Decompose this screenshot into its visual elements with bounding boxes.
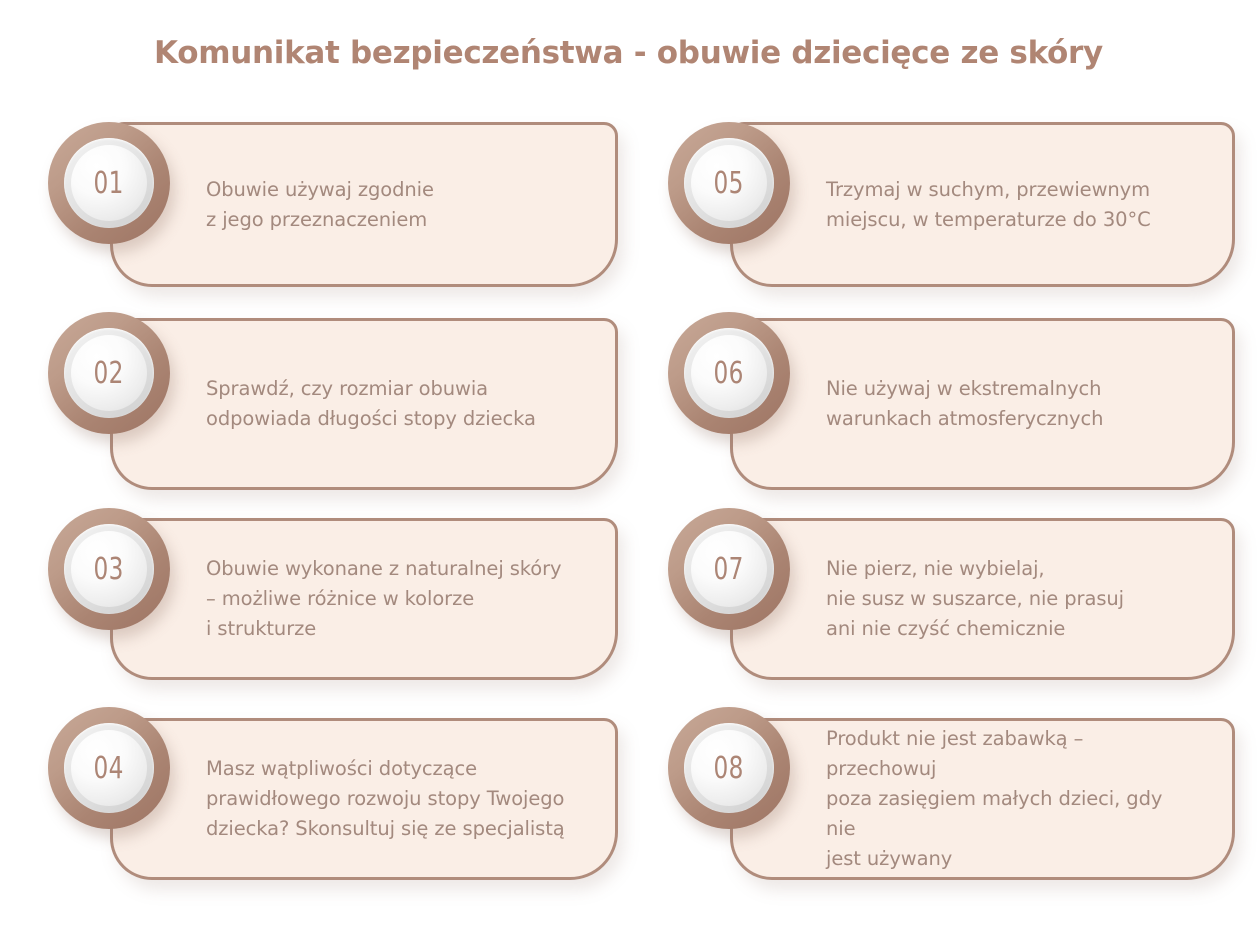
badge-inner-ring: 06 [684,328,774,418]
card-text: Masz wątpliwości dotyczące prawidłowego … [206,754,578,844]
info-card-02: Sprawdź, czy rozmiar obuwia odpowiada dł… [110,318,618,490]
info-card-04: Masz wątpliwości dotyczące prawidłowego … [110,718,618,880]
badge-03: 03 [48,508,170,630]
badge-07: 07 [668,508,790,630]
info-card-06: Nie używaj w ekstremalnych warunkach atm… [730,318,1235,490]
badge-number: 05 [714,166,744,201]
badge-number: 07 [714,552,744,587]
badge-face: 08 [691,730,767,806]
card-text: Obuwie używaj zgodnie z jego przeznaczen… [206,175,578,235]
badge-number: 06 [714,356,744,391]
badge-08: 08 [668,707,790,829]
info-card-01: Obuwie używaj zgodnie z jego przeznaczen… [110,122,618,287]
badge-face: 01 [71,145,147,221]
badge-number: 02 [94,356,124,391]
badge-face: 05 [691,145,767,221]
cards-board: Obuwie używaj zgodnie z jego przeznaczen… [0,0,1257,941]
badge-inner-ring: 08 [684,723,774,813]
badge-face: 03 [71,531,147,607]
badge-face: 02 [71,335,147,411]
badge-05: 05 [668,122,790,244]
badge-number: 03 [94,552,124,587]
card-text: Sprawdź, czy rozmiar obuwia odpowiada dł… [206,374,578,434]
badge-inner-ring: 04 [64,723,154,813]
badge-face: 06 [691,335,767,411]
badge-inner-ring: 03 [64,524,154,614]
info-card-03: Obuwie wykonane z naturalnej skóry – moż… [110,518,618,680]
badge-04: 04 [48,707,170,829]
info-card-05: Trzymaj w suchym, przewiewnym miejscu, w… [730,122,1235,287]
info-card-07: Nie pierz, nie wybielaj, nie susz w susz… [730,518,1235,680]
card-text: Trzymaj w suchym, przewiewnym miejscu, w… [826,175,1195,235]
card-text: Nie pierz, nie wybielaj, nie susz w susz… [826,554,1195,644]
badge-inner-ring: 01 [64,138,154,228]
badge-face: 04 [71,730,147,806]
card-text: Nie używaj w ekstremalnych warunkach atm… [826,374,1195,434]
badge-02: 02 [48,312,170,434]
badge-inner-ring: 05 [684,138,774,228]
info-card-08: Produkt nie jest zabawką – przechowuj po… [730,718,1235,880]
badge-face: 07 [691,531,767,607]
card-text: Produkt nie jest zabawką – przechowuj po… [826,724,1195,874]
card-text: Obuwie wykonane z naturalnej skóry – moż… [206,554,578,644]
badge-number: 01 [94,166,124,201]
badge-01: 01 [48,122,170,244]
badge-number: 04 [94,751,124,786]
badge-06: 06 [668,312,790,434]
badge-inner-ring: 07 [684,524,774,614]
badge-inner-ring: 02 [64,328,154,418]
badge-number: 08 [714,751,744,786]
